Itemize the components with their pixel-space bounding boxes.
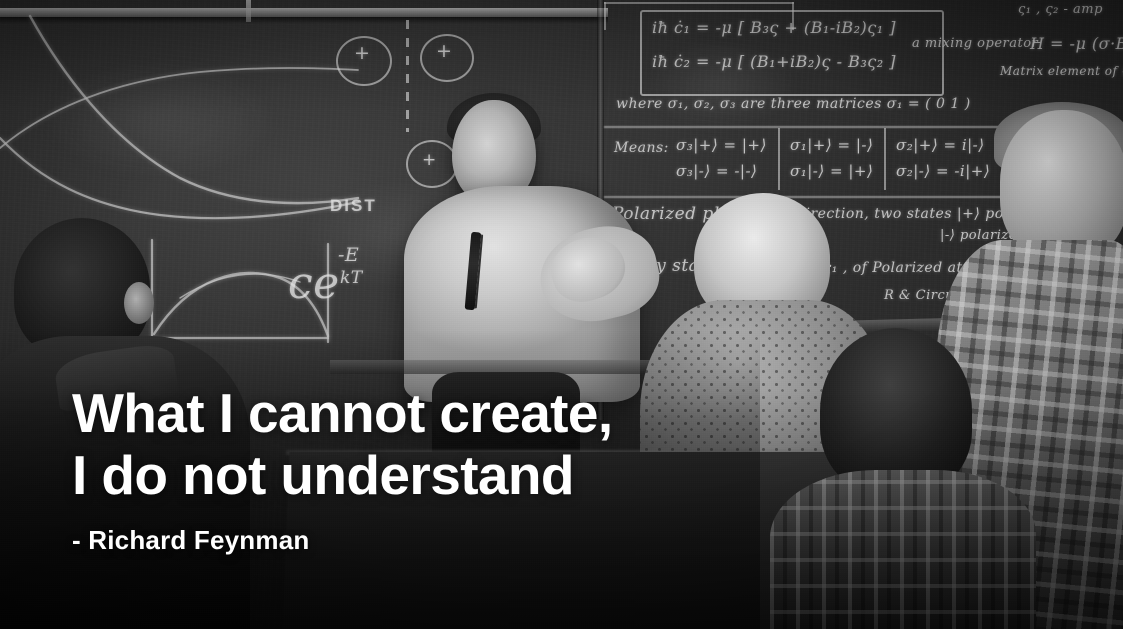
chalk-means-3: σ₂|+⟩ = i|-⟩ — [896, 136, 985, 154]
chalk-where-line: where σ₁, σ₂, σ₃ are three matrices σ₁ =… — [616, 96, 971, 112]
quote-line-2: I do not understand — [72, 444, 712, 506]
chalk-means-label: Means: — [614, 140, 669, 156]
chalk-means-2: σ₁|+⟩ = |-⟩ — [790, 136, 873, 154]
chalk-label-dist: DIST — [330, 196, 377, 216]
chalk-mixing-operator-note: a mixing operator — [912, 36, 1038, 51]
chalk-equation-1: iħ ċ₁ = -μ [ B₃ς + (B₁-iB₂)ς₁ ] — [652, 18, 896, 37]
quote-image: DIST ce -E kT + + + + iħ ċ₁ = -μ [ B₃ς +… — [0, 0, 1123, 629]
quote-block: What I cannot create, I do not understan… — [72, 382, 712, 506]
panel-border — [604, 2, 794, 4]
chalk-hamiltonian: H = -μ (σ·B) — [1030, 34, 1123, 53]
chalk-means-1: σ₃|+⟩ = |+⟩ — [676, 136, 767, 154]
chalk-boltzmann-numerator: -E — [338, 244, 359, 266]
chalk-dashed-axis — [406, 20, 409, 132]
chalk-column-divider — [884, 128, 886, 190]
chalk-plus-sign: + — [422, 150, 437, 170]
chalk-column-divider — [778, 128, 780, 190]
chalk-boltzmann-factor: ce — [288, 258, 340, 309]
quote-attribution: - Richard Feynman — [72, 525, 309, 556]
panel-border — [604, 2, 606, 30]
chalk-exponential-curves — [0, 10, 360, 225]
chalk-equation-2: iħ ċ₂ = -μ [ (B₁+iB₂)ς - B₃ς₂ ] — [652, 52, 896, 71]
blackboard-ledge — [330, 360, 660, 374]
chalk-plus-sign: + — [354, 42, 370, 64]
plaid-student-head — [1000, 110, 1123, 260]
foreground-student-ear — [124, 282, 154, 324]
chalk-matrix-element-note: Matrix element of ⟨+|σ|+⟩ — [1000, 64, 1123, 78]
center-student-shirt-pattern — [770, 470, 1036, 629]
chalk-means-5: σ₁|-⟩ = |+⟩ — [790, 162, 873, 180]
chalk-boltzmann-denominator: kT — [340, 268, 363, 288]
quote-line-1: What I cannot create, — [72, 382, 712, 444]
chalk-means-6: σ₂|-⟩ = -i|+⟩ — [896, 162, 990, 180]
chalk-plus-sign: + — [436, 40, 452, 62]
chalk-amp-note: ς₁ , ς₂ - amp — [1018, 2, 1103, 17]
chalk-means-4: σ₃|-⟩ = -|-⟩ — [676, 162, 757, 180]
